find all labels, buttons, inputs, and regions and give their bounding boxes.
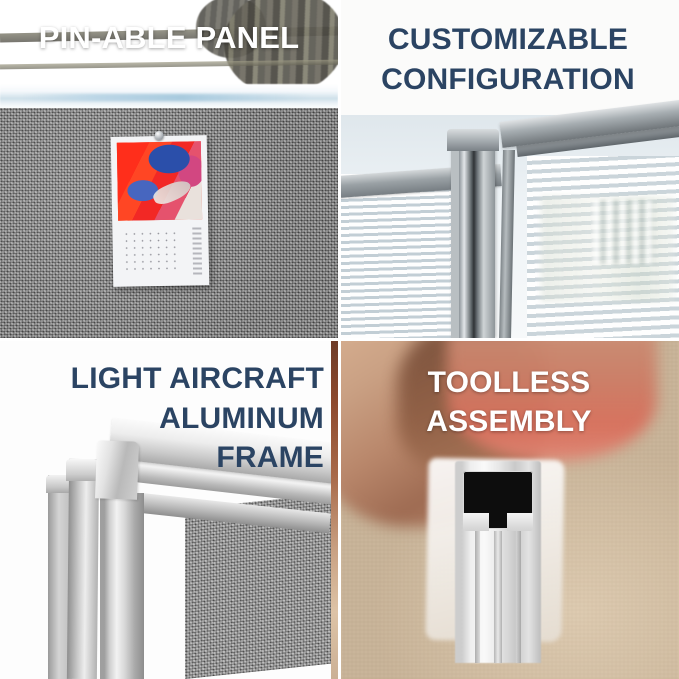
extrusion-center-web xyxy=(494,531,502,663)
extrusion-groove-left xyxy=(475,531,480,663)
divider-horizontal xyxy=(0,338,679,341)
panel-pin-able-panel: PIN-ABLE PANEL xyxy=(0,0,338,338)
aluminum-extrusion-post xyxy=(455,461,541,663)
calendar-artwork xyxy=(117,141,202,220)
pinned-calendar xyxy=(111,135,210,287)
extrusion-groove-right xyxy=(516,531,521,663)
feature-collage: PIN-ABLE PANEL CUSTOMIZABLE CONFIGURATIO… xyxy=(0,0,679,679)
extrusion-notch-right xyxy=(507,513,533,531)
fluorescent-light-core xyxy=(22,94,313,101)
aluminum-corner-post xyxy=(100,493,144,679)
extrusion-notch-left xyxy=(463,513,489,531)
panel-customizable-configuration: CUSTOMIZABLE CONFIGURATION xyxy=(341,0,679,338)
push-pin-icon xyxy=(155,131,164,140)
caption-toolless-assembly: TOOLLESS ASSEMBLY xyxy=(351,363,667,441)
panel-light-aircraft-aluminum-frame: LIGHT AIRCRAFT ALUMINUM FRAME xyxy=(0,341,338,679)
extrusion-center-tooth xyxy=(490,513,506,527)
caption-customizable-configuration: CUSTOMIZABLE CONFIGURATION xyxy=(349,20,667,99)
outside-building-left xyxy=(593,200,653,264)
caption-pin-able-panel: PIN-ABLE PANEL xyxy=(0,22,338,54)
caption-light-aircraft-aluminum-frame: LIGHT AIRCRAFT ALUMINUM FRAME xyxy=(8,359,324,478)
calendar-date-grid xyxy=(122,230,179,275)
panel-right-edge-strip xyxy=(331,341,338,679)
calendar-month-label xyxy=(192,227,202,277)
aluminum-corner-post xyxy=(451,132,495,338)
panel-toolless-assembly: TOOLLESS ASSEMBLY xyxy=(341,341,679,679)
post-cap xyxy=(447,129,499,151)
